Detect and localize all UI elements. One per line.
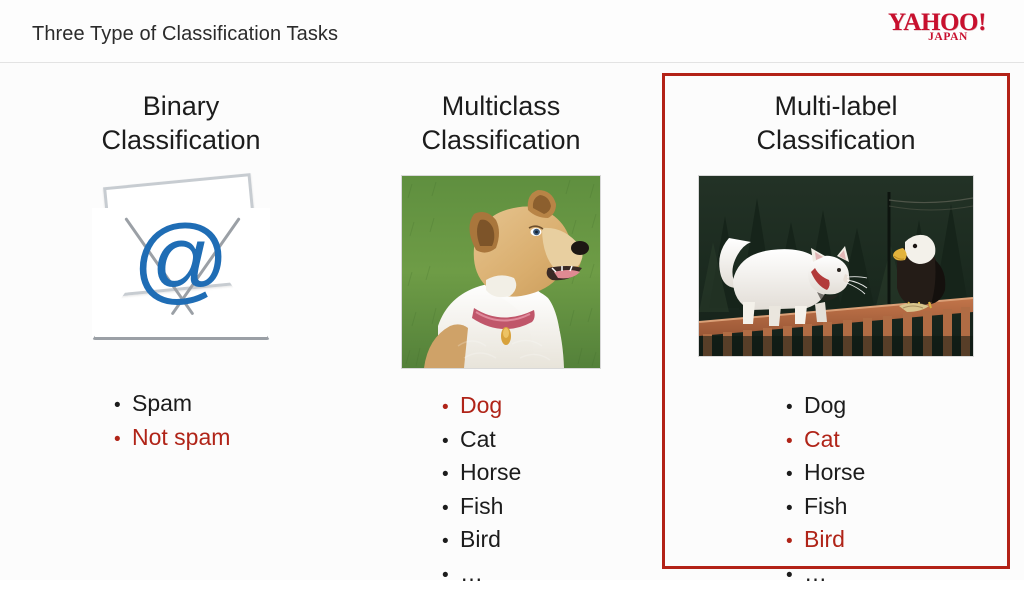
label-text: Dog bbox=[804, 390, 846, 421]
bullet-icon: • bbox=[442, 460, 460, 491]
bullet-icon: • bbox=[786, 494, 804, 525]
label-text: … bbox=[460, 558, 483, 589]
column-heading-multiclass: Multiclass Classification bbox=[356, 89, 646, 157]
bullet-icon: • bbox=[442, 494, 460, 525]
media-multiclass bbox=[356, 175, 646, 369]
column-heading-binary-line1: Binary bbox=[143, 91, 220, 121]
bullet-icon: • bbox=[442, 393, 460, 424]
label-text: Fish bbox=[804, 491, 847, 522]
media-multilabel bbox=[676, 175, 996, 357]
list-item: • Cat bbox=[786, 424, 1024, 458]
column-heading-multilabel: Multi-label Classification bbox=[676, 89, 996, 157]
column-binary-classification: Binary Classification @ • Spam • Not spa… bbox=[36, 63, 326, 580]
column-heading-multiclass-line2: Classification bbox=[421, 125, 580, 155]
bullet-icon: • bbox=[442, 527, 460, 558]
bullet-icon: • bbox=[114, 425, 132, 456]
label-text: Horse bbox=[804, 457, 865, 488]
bullet-icon: • bbox=[442, 427, 460, 458]
page-title: Three Type of Classification Tasks bbox=[32, 23, 338, 46]
bullet-icon: • bbox=[786, 561, 804, 591]
label-text: … bbox=[804, 558, 827, 589]
label-text: Spam bbox=[132, 388, 192, 419]
label-list-binary: • Spam • Not spam bbox=[36, 388, 404, 455]
bullet-icon: • bbox=[442, 561, 460, 591]
email-envelope-icon: @ bbox=[86, 170, 276, 348]
label-text: Not spam bbox=[132, 422, 230, 453]
list-item: • Horse bbox=[786, 457, 1024, 491]
label-text: Horse bbox=[460, 457, 521, 488]
column-heading-multiclass-line1: Multiclass bbox=[442, 91, 561, 121]
classification-columns: Binary Classification @ • Spam • Not spa… bbox=[0, 63, 1024, 580]
label-text: Bird bbox=[804, 524, 845, 555]
column-heading-binary: Binary Classification bbox=[36, 89, 326, 157]
at-sign-glyph: @ bbox=[86, 212, 276, 308]
bullet-icon: • bbox=[786, 427, 804, 458]
label-text: Fish bbox=[460, 491, 503, 522]
column-heading-binary-line2: Classification bbox=[101, 125, 260, 155]
list-item: • Dog bbox=[786, 390, 1024, 424]
bullet-icon: • bbox=[786, 460, 804, 491]
label-text: Bird bbox=[460, 524, 501, 555]
label-text: Cat bbox=[460, 424, 496, 455]
bullet-icon: • bbox=[114, 391, 132, 422]
media-binary: @ bbox=[36, 170, 326, 348]
slide-header: Three Type of Classification Tasks YAHOO… bbox=[0, 0, 1024, 63]
label-text: Dog bbox=[460, 390, 502, 421]
cat-and-eagle-photo bbox=[698, 175, 974, 357]
list-item: • Fish bbox=[786, 491, 1024, 525]
bullet-icon: • bbox=[786, 393, 804, 424]
yahoo-japan-logo: YAHOO! JAPAN bbox=[878, 10, 996, 52]
label-text: Cat bbox=[804, 424, 840, 455]
list-item: • Bird bbox=[786, 524, 1024, 558]
column-heading-multilabel-line2: Classification bbox=[756, 125, 915, 155]
dog-photo bbox=[401, 175, 601, 369]
column-multilabel-classification: Multi-label Classification bbox=[676, 63, 996, 580]
list-item: • … bbox=[786, 558, 1024, 591]
column-heading-multilabel-line1: Multi-label bbox=[774, 91, 897, 121]
label-list-multilabel: • Dog • Cat • Horse • Fish • Bird • … bbox=[676, 390, 1024, 591]
bullet-icon: • bbox=[786, 527, 804, 558]
column-multiclass-classification: Multiclass Classification bbox=[356, 63, 646, 580]
